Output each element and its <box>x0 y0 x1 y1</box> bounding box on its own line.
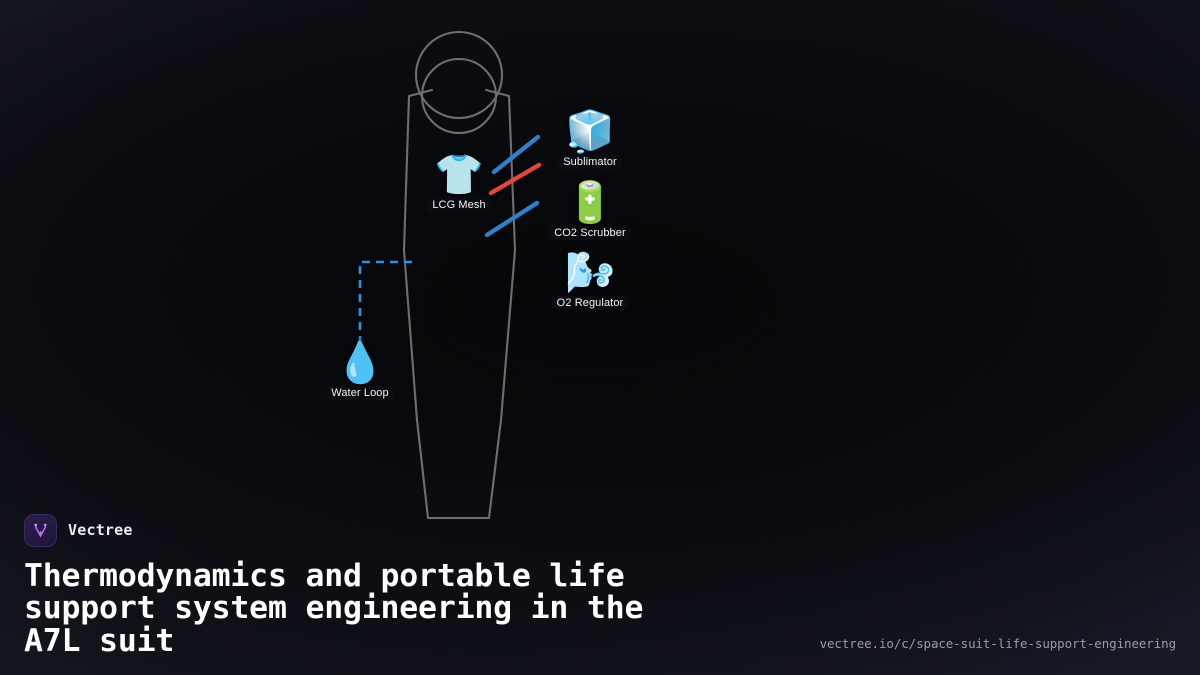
node-lcg-mesh[interactable]: 👕 LCG Mesh <box>388 155 530 213</box>
brand-row: Vectree <box>24 514 1176 547</box>
poster-canvas: 👕 LCG Mesh 🧊 Sublimator 🔋 CO2 Scrubber 🌬… <box>0 0 1200 675</box>
brand-name: Vectree <box>68 521 133 539</box>
source-url: vectree.io/c/space-suit-life-support-eng… <box>820 636 1176 651</box>
diagram-area: 👕 LCG Mesh 🧊 Sublimator 🔋 CO2 Scrubber 🌬… <box>0 0 1200 560</box>
battery-icon: 🔋 <box>519 183 661 223</box>
node-label: CO2 Scrubber <box>549 226 631 240</box>
wind-face-icon: 🌬️ <box>519 253 661 293</box>
astronaut-suit-outline <box>404 32 515 518</box>
water-droplet-icon: 💧 <box>289 343 431 383</box>
node-co2-scrubber[interactable]: 🔋 CO2 Scrubber <box>519 183 661 241</box>
visor-icon <box>422 59 496 133</box>
node-label: Water Loop <box>326 386 393 400</box>
ice-cube-icon: 🧊 <box>519 112 661 152</box>
vectree-glyph <box>30 520 51 541</box>
node-o2-regulator[interactable]: 🌬️ O2 Regulator <box>519 253 661 311</box>
node-sublimator[interactable]: 🧊 Sublimator <box>519 112 661 170</box>
node-label: LCG Mesh <box>427 198 490 212</box>
page-title: Thermodynamics and portable life support… <box>24 560 784 657</box>
node-water-loop[interactable]: 💧 Water Loop <box>289 343 431 401</box>
node-label: Sublimator <box>558 155 622 169</box>
vectree-logo-icon <box>24 514 57 547</box>
tshirt-icon: 👕 <box>388 155 530 195</box>
node-label: O2 Regulator <box>552 296 629 310</box>
